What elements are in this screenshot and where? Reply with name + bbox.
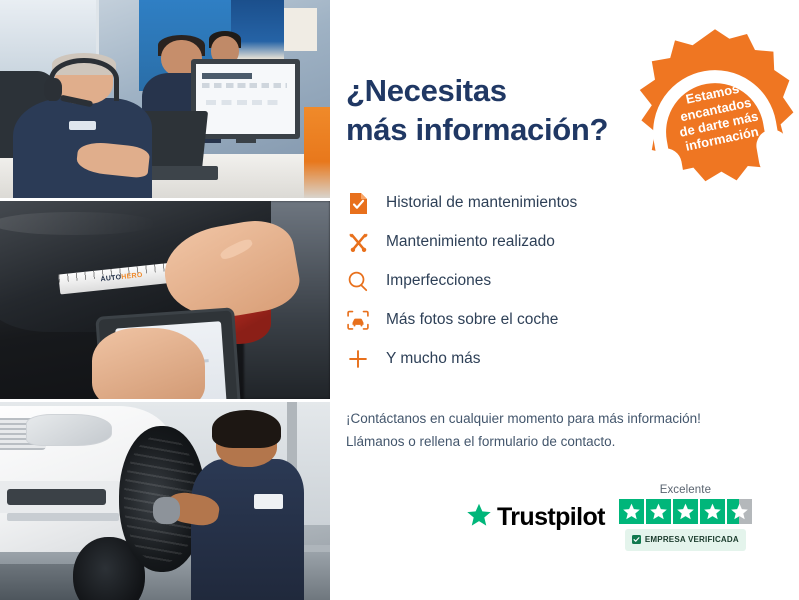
- feature-item-mas: Y mucho más: [346, 340, 775, 379]
- contact-line-1: ¡Contáctanos en cualquier momento para m…: [346, 407, 775, 431]
- vehicle-inspection-photo: AUTOHERO: [0, 201, 330, 399]
- verified-label: EMPRESA VERIFICADA: [645, 535, 739, 544]
- trustpilot-rating: Excelente: [619, 484, 752, 551]
- magnifier-icon: [346, 269, 370, 293]
- star-3: [673, 499, 698, 524]
- feature-label: Imperfecciones: [386, 272, 491, 290]
- star-4: [700, 499, 725, 524]
- feature-label: Mantenimiento realizado: [386, 233, 555, 251]
- car-headlight: [26, 414, 112, 446]
- trustpilot-wordmark: Trustpilot: [497, 503, 605, 532]
- desktop-monitor: [191, 59, 300, 138]
- star-2: [646, 499, 671, 524]
- information-promo-banner: AUTOHERO: [0, 0, 799, 600]
- heading-line-2: más información?: [346, 111, 636, 150]
- verified-check-icon: [632, 531, 641, 549]
- ruler-brand-part-a: AUTO: [101, 275, 123, 284]
- feature-label: Más fotos sobre el coche: [386, 311, 558, 329]
- headset-icon: [622, 39, 799, 224]
- tools-cross-icon: [346, 230, 370, 254]
- star-5-half: [727, 499, 752, 524]
- mechanic-worker: [191, 410, 303, 600]
- plus-icon: [346, 347, 370, 371]
- orange-shelf-accent: [304, 107, 330, 198]
- photo-strip: AUTOHERO: [0, 0, 330, 600]
- trustpilot-logo[interactable]: Trustpilot: [466, 502, 605, 533]
- feature-item-mantenimiento: Mantenimiento realizado: [346, 223, 775, 262]
- bumper-vent: [7, 489, 106, 505]
- feature-label: Y mucho más: [386, 350, 480, 368]
- contact-copy: ¡Contáctanos en cualquier momento para m…: [346, 407, 775, 454]
- rating-label: Excelente: [660, 484, 711, 496]
- wall-poster-secondary: [284, 8, 317, 52]
- star-rating: [619, 499, 752, 524]
- verified-company-badge: EMPRESA VERIFICADA: [625, 529, 746, 551]
- content-panel: Estamos encantados de darte más informac…: [330, 0, 799, 600]
- heading-line-1: ¿Necesitas: [346, 72, 636, 111]
- chrome-trim: [7, 513, 119, 521]
- trustpilot-star-icon: [466, 502, 492, 533]
- car-viewfinder-icon: [346, 308, 370, 332]
- page-title: ¿Necesitas más información?: [346, 72, 636, 150]
- feature-item-imperfecciones: Imperfecciones: [346, 262, 775, 301]
- document-check-icon: [346, 191, 370, 215]
- info-starburst-badge: Estamos encantados de darte más informac…: [635, 26, 795, 186]
- contact-line-2: Llámanos o rellena el formulario de cont…: [346, 430, 775, 454]
- feature-item-fotos: Más fotos sobre el coche: [346, 301, 775, 340]
- feature-label: Historial de mantenimientos: [386, 194, 577, 212]
- headset-agent: [13, 55, 152, 198]
- trustpilot-widget[interactable]: Trustpilot Excelente: [346, 484, 775, 551]
- ruler-brand-part-b: HERO: [121, 273, 143, 282]
- call-center-agent-photo: [0, 0, 330, 198]
- inspector-lower-hand: [92, 328, 204, 399]
- star-1: [619, 499, 644, 524]
- mechanic-wheel-photo: [0, 402, 330, 600]
